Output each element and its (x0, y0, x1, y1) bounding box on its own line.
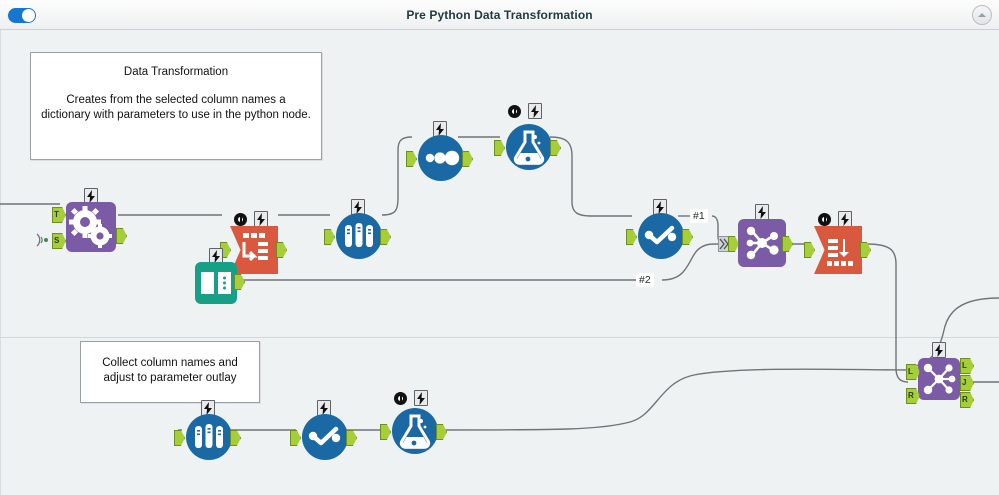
node-icon-flask (506, 124, 552, 170)
node-icon-line-plot (302, 414, 348, 460)
workflow-canvas[interactable]: Data Transformation Creates from the sel… (0, 30, 999, 495)
input-port[interactable] (804, 242, 815, 258)
flow-label-1: #1 (690, 209, 708, 223)
page-title: Pre Python Data Transformation (0, 0, 999, 30)
node-python-script[interactable] (734, 198, 790, 270)
node-joiner[interactable]: L R L J R (908, 342, 970, 414)
node-table-transform-2[interactable] (806, 190, 868, 260)
annotation-note[interactable]: Collect column names and adjust to param… (80, 341, 260, 403)
input-port-t[interactable]: T (52, 207, 66, 223)
bolt-icon (254, 211, 268, 227)
gear-badge-icon (234, 213, 247, 226)
output-port[interactable] (234, 274, 245, 290)
input-port[interactable] (494, 140, 505, 156)
node-book[interactable] (192, 248, 244, 310)
gear-badge-icon (818, 213, 831, 226)
node-line-plot-1[interactable] (632, 186, 690, 261)
node-icon-table-arrow (814, 226, 862, 274)
node-icon-gears (66, 202, 116, 252)
node-column-dots[interactable] (412, 108, 470, 183)
node-flask-2[interactable] (386, 392, 444, 474)
input-port[interactable] (174, 430, 185, 446)
bolt-icon (755, 204, 769, 220)
node-icon-test-tubes (186, 414, 232, 460)
bolt-icon (932, 342, 946, 358)
bolt-icon (414, 390, 428, 406)
node-test-tubes-2[interactable] (180, 400, 238, 475)
node-icon-open-book (195, 262, 237, 304)
node-icon-three-dots (418, 135, 464, 181)
node-flask-1[interactable] (500, 100, 558, 182)
chevron-up-icon (978, 13, 986, 17)
node-icon-line-plot (638, 213, 684, 259)
bolt-icon (838, 211, 852, 227)
node-line-plot-2[interactable] (296, 400, 354, 475)
note-body: Creates from the selected column names a… (41, 93, 311, 123)
workflow-editor: Pre Python Data Transformation (0, 0, 999, 495)
gear-badge-icon (394, 392, 407, 405)
title-bar: Pre Python Data Transformation (0, 0, 999, 30)
input-port[interactable] (290, 430, 301, 446)
input-port[interactable] (626, 229, 637, 245)
collapse-button[interactable] (972, 5, 992, 25)
input-port[interactable] (406, 151, 417, 167)
broadcast-icon (34, 232, 54, 253)
input-port[interactable] (380, 424, 391, 440)
bolt-icon (528, 103, 542, 119)
node-icon-joiner (918, 358, 960, 400)
note-title: Data Transformation (41, 65, 311, 80)
input-port[interactable] (324, 229, 335, 245)
note-body: Collect column names and adjust to param… (93, 356, 247, 386)
node-icon-flask (392, 408, 438, 454)
note-spacer (41, 80, 311, 93)
node-test-tubes-1[interactable] (330, 185, 388, 260)
annotation-note[interactable]: Data Transformation Creates from the sel… (30, 52, 322, 160)
flow-label-2: #2 (636, 273, 654, 287)
input-port-s[interactable]: S (52, 233, 66, 249)
node-gear-config[interactable]: T S (60, 188, 122, 268)
node-icon-branch-network (738, 219, 786, 267)
node-icon-test-tubes (336, 213, 382, 259)
gear-badge-icon (508, 105, 521, 118)
